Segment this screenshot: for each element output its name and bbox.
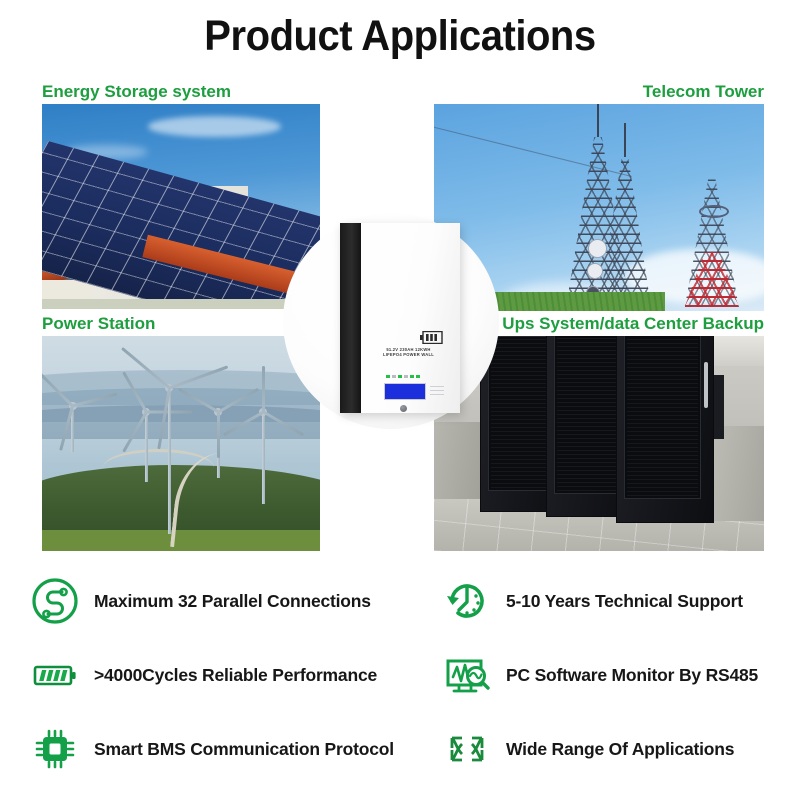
battery-level-icon [420,331,444,344]
solar-panel-roof-house-photo [42,104,320,309]
feature-row-3: Smart BMS Communication Protocol Wide Ra… [0,714,800,784]
product-lcd-display[interactable] [384,383,426,400]
product-side-panel [340,223,361,413]
feature-item-pc-monitor: PC Software Monitor By RS485 [410,640,800,710]
application-label-telecom-tower: Telecom Tower [434,82,764,104]
product-name-line: LIFEPO4 POWER WALL [361,352,456,357]
product-led-indicators [386,375,424,381]
four-arrows-outward-icon [440,722,494,776]
feature-item-technical-support: 5-10 Years Technical Support [410,566,800,636]
feature-label: 5-10 Years Technical Support [506,591,743,612]
feature-label: PC Software Monitor By RS485 [506,665,758,686]
feature-list: Maximum 32 Parallel Connections 5-10 Yea… [0,566,800,800]
cpu-chip-icon [28,722,82,776]
feature-item-cycles: >4000Cycles Reliable Performance [0,640,410,710]
monitor-waveform-magnifier-icon [440,648,494,702]
feature-label: Wide Range Of Applications [506,739,734,760]
feature-label: Smart BMS Communication Protocol [94,739,394,760]
feature-label: Maximum 32 Parallel Connections [94,591,371,612]
product-applications-poster: Product Applications Energy Storage syst… [0,0,800,800]
battery-full-icon [28,648,82,702]
product-power-button[interactable] [400,405,407,412]
feature-label: >4000Cycles Reliable Performance [94,665,377,686]
feature-item-parallel-connections: Maximum 32 Parallel Connections [0,566,410,636]
application-label-energy-storage: Energy Storage system [42,82,320,104]
wind-turbine-farm-photo [42,336,320,551]
product-side-markings [430,383,444,395]
feature-row-2: >4000Cycles Reliable Performance PC Soft… [0,640,800,710]
application-card-power-station: Power Station [42,314,320,551]
page-title: Product Applications [28,12,772,61]
application-label-power-station: Power Station [42,314,320,336]
feature-row-1: Maximum 32 Parallel Connections 5-10 Yea… [0,566,800,636]
feature-item-smart-bms: Smart BMS Communication Protocol [0,714,410,784]
application-card-energy-storage: Energy Storage system [42,82,320,309]
clock-arrow-icon [440,574,494,628]
feature-item-wide-range: Wide Range Of Applications [410,714,800,784]
power-wall-battery-product: 51.2V 230AH 12KWH LIFEPO4 POWER WALL [340,223,460,413]
product-spec-text: 51.2V 230AH 12KWH LIFEPO4 POWER WALL [361,347,456,358]
parallel-connections-icon [28,574,82,628]
